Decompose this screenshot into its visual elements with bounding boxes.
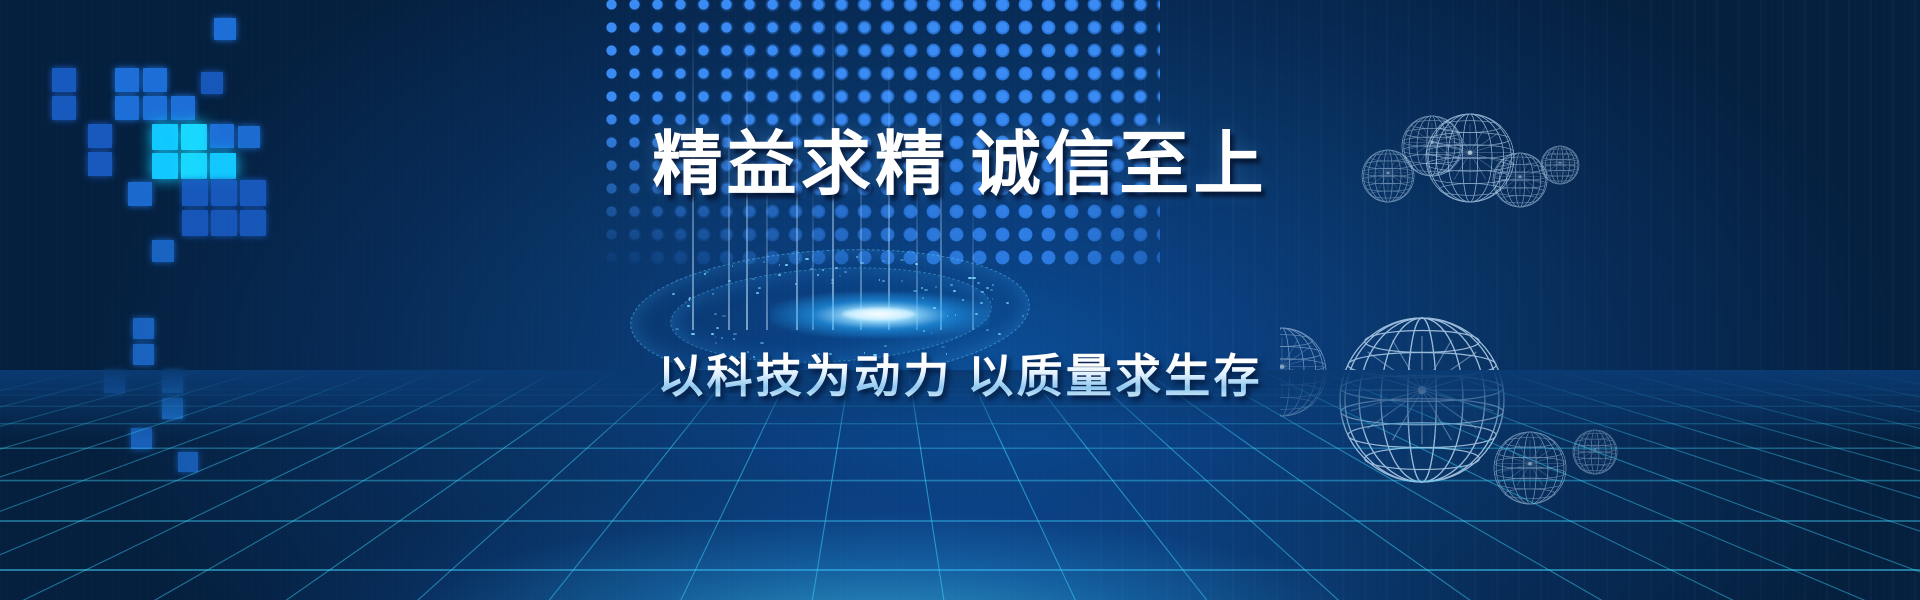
mosaic-square (201, 72, 223, 94)
ring-sparkle (933, 307, 936, 309)
ring-sparkle (981, 291, 984, 293)
ring-sparkle (732, 265, 733, 267)
ring-sparkle (992, 298, 993, 300)
ring-sparkle (935, 286, 937, 288)
ring-sparkle (998, 333, 1001, 335)
mosaic-square (133, 318, 154, 339)
ring-sparkle (844, 271, 847, 273)
ring-sparkle (879, 279, 880, 281)
ring-sparkle (931, 332, 932, 334)
mosaic-square (152, 240, 174, 262)
ring-sparkle (704, 273, 706, 275)
ring-sparkle (950, 284, 953, 286)
headline: 精益求精 诚信至上 (0, 108, 1920, 209)
ring-sparkle (923, 330, 925, 332)
ring-sparkle (924, 289, 928, 291)
ring-sparkle (972, 277, 976, 279)
ring-sparkle (711, 333, 714, 335)
ring-sparkle (860, 262, 864, 264)
ring-sparkle (1022, 315, 1024, 317)
ring-sparkle (900, 259, 904, 261)
mosaic-square (52, 68, 76, 92)
ring-sparkle (785, 264, 788, 266)
mosaic-square (211, 210, 237, 236)
banner-root: 精益求精 诚信至上 以科技为动力 以质量求生存 (0, 0, 1920, 600)
floor-glow (0, 390, 1920, 600)
ring-sparkle (758, 287, 761, 289)
ring-sparkle (962, 299, 964, 301)
ring-sparkle (822, 269, 824, 271)
ring-sparkle (677, 279, 678, 281)
ring-sparkle (733, 333, 737, 335)
ring-sparkle (1006, 302, 1009, 304)
ring-light-hotspot (842, 308, 916, 320)
mosaic-square (214, 18, 236, 40)
ring-sparkle (977, 282, 980, 284)
ring-sparkle (882, 260, 885, 262)
ring-sparkle (882, 280, 885, 282)
mosaic-square (240, 210, 266, 236)
ring-sparkle (752, 278, 755, 280)
ring-sparkle (817, 274, 819, 276)
mosaic-square (182, 210, 208, 236)
ring-sparkle (915, 263, 918, 265)
ring-sparkle (810, 268, 813, 270)
ring-sparkle (779, 264, 780, 266)
subheadline: 以科技为动力 以质量求生存 (0, 340, 1920, 406)
ring-sparkle (901, 280, 903, 282)
ring-sparkle (756, 292, 759, 294)
ring-sparkle (728, 280, 731, 282)
mosaic-square (143, 68, 167, 92)
ring-sparkle (691, 333, 695, 335)
mosaic-square (115, 68, 139, 92)
ring-sparkle (986, 287, 989, 289)
ring-sparkle (980, 302, 983, 304)
